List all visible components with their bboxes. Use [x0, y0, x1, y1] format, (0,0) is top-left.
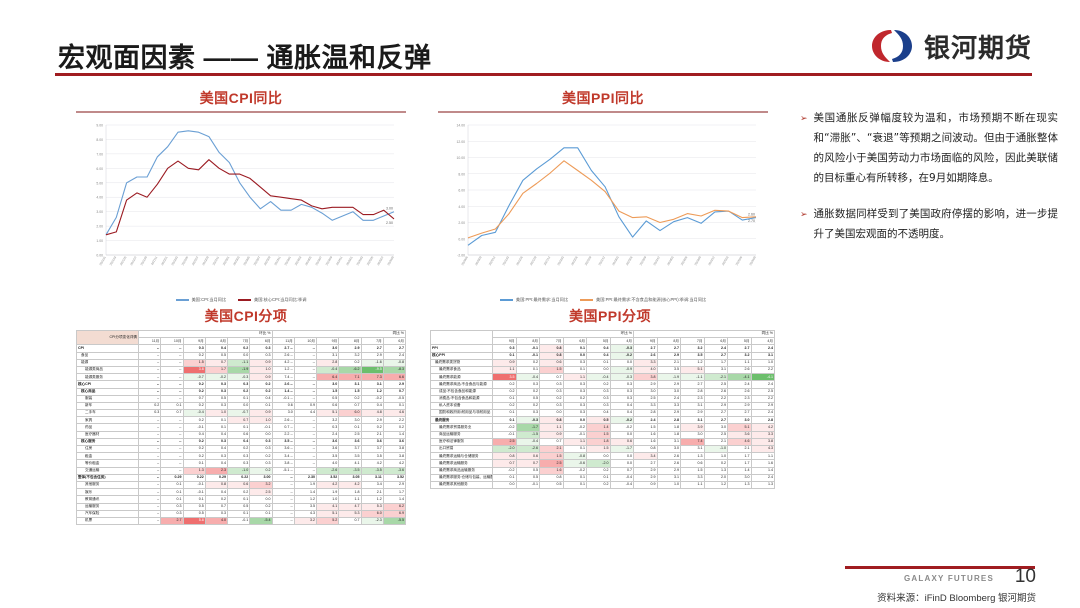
- svg-text:202009: 202009: [474, 255, 483, 266]
- svg-text:202405: 202405: [304, 255, 313, 266]
- table-row[interactable]: 最终需求运输与仓储服务0.80.61.5-0.80.00.03.42.61.31…: [431, 453, 775, 460]
- cell-mom: 0.4: [205, 345, 227, 352]
- cell-mom: --: [139, 474, 161, 481]
- cell-yoy: 3.0: [339, 417, 361, 424]
- cell-yoy: -9.5: [361, 366, 383, 373]
- cell-mom: --: [139, 438, 161, 445]
- cell-mom: --: [161, 467, 183, 474]
- cell-yoy: 1.0: [704, 453, 728, 460]
- cell-mom: 0.2: [183, 446, 205, 453]
- cell-mom: 0.2: [250, 467, 272, 474]
- table-row[interactable]: 新车0.20.10.20.30.00.10.60.90.60.70.40.1: [77, 402, 406, 409]
- col-month-header: 8月: [339, 338, 361, 345]
- cell-yoy: 4.3: [294, 510, 316, 517]
- cell-mom: 0.2: [540, 395, 564, 402]
- table-row[interactable]: 药品-----0.10.10.1-0.10.7 ----0.30.10.20.2: [77, 424, 406, 431]
- cell-mom: --: [139, 496, 161, 503]
- cell-mom: --: [139, 374, 161, 381]
- table-row[interactable]: 能源----1.50.7-1.10.94.2 ----2.80.2-1.6-0.…: [77, 359, 406, 366]
- cell-yoy: 0.2: [361, 424, 383, 431]
- cell-mom: 0.4: [610, 402, 634, 409]
- cell-mom: 0.1: [493, 352, 517, 359]
- cell-mom: 0.2: [250, 453, 272, 460]
- cell-yoy: 2.5: [339, 431, 361, 438]
- row-label: 最终需求能源: [431, 374, 493, 381]
- cell-yoy: 1.0: [751, 359, 775, 366]
- row-label: 最终需求运输服务: [431, 460, 493, 467]
- cell-yoy: 6.9: [383, 510, 405, 517]
- cell-yoy: 2.7: [704, 410, 728, 417]
- cell-yoy: 2.3: [728, 395, 752, 402]
- table-row[interactable]: 私人资本设备0.20.20.30.30.30.43.33.33.12.92.92…: [431, 402, 775, 409]
- cell-yoy: 3.2: [681, 345, 705, 352]
- cell-yoy: 2.7: [361, 345, 383, 352]
- cell-mom: 0.1: [250, 510, 272, 517]
- cell-mom: 0.3: [610, 381, 634, 388]
- table-row[interactable]: 娱乐--0.1-0.10.40.22.5--1.41.91.82.11.7: [77, 489, 406, 496]
- bullet-arrow-icon: ➢: [800, 204, 808, 244]
- cell-yoy: 0.2: [339, 359, 361, 366]
- cell-yoy: --: [294, 352, 316, 359]
- cell-yoy: 1.4: [383, 496, 405, 503]
- cell-mom: 0.1: [161, 489, 183, 496]
- cell-yoy: 0.7: [383, 388, 405, 395]
- cell-mom: 0.5: [183, 503, 205, 510]
- svg-text:202306: 202306: [625, 255, 634, 266]
- cell-yoy: 3.3: [751, 431, 775, 438]
- cell-mom: --: [161, 446, 183, 453]
- cell-yoy: 2.5: [704, 431, 728, 438]
- cell-mom: 1.5: [587, 446, 611, 453]
- cell-yoy: 2.9: [657, 467, 681, 474]
- cell-yoy: -1.0: [704, 446, 728, 453]
- table-row[interactable]: 核心PPI0.1-0.10.80.00.4-0.22.62.93.52.73.2…: [431, 352, 775, 359]
- table-row[interactable]: 食品----0.20.50.00.32.6 ----3.13.22.92.4: [77, 352, 406, 359]
- cell-yoy: 2.6: [704, 388, 728, 395]
- cell-mom: 0.2: [250, 381, 272, 388]
- cell-yoy: 2.9: [728, 402, 752, 409]
- cell-mom: 0.1: [563, 474, 587, 481]
- cell-yoy: 2.9: [634, 474, 658, 481]
- cell-mom: 0.1: [228, 424, 250, 431]
- cell-mom: 0.2: [183, 453, 205, 460]
- cell-yoy: 1.2: [361, 388, 383, 395]
- cell-mom: 0.1: [161, 496, 183, 503]
- cell-mom: --: [139, 359, 161, 366]
- legend-swatch: [238, 299, 251, 301]
- cell-yoy: 3.3: [657, 402, 681, 409]
- cell-mom: -1.9: [228, 366, 250, 373]
- cell-mom: 3.00: [250, 474, 272, 481]
- cell-yoy: 2.7: [634, 460, 658, 467]
- table-row[interactable]: 最终需求商品运输服务-0.20.51.6-0.20.20.72.92.91.51…: [431, 467, 775, 474]
- cell-mom: 0.4: [205, 489, 227, 496]
- svg-text:202207: 202207: [191, 255, 200, 266]
- cell-mom: 0.4: [610, 410, 634, 417]
- cell-yoy: 2.2: [704, 395, 728, 402]
- svg-text:202312: 202312: [652, 255, 661, 266]
- svg-text:202506: 202506: [735, 255, 744, 266]
- cell-mom: -0.2: [493, 467, 517, 474]
- table-row[interactable]: CPI----0.30.40.20.32.7 ----3.02.92.72.7: [77, 345, 406, 352]
- cell-yoy: -4.1: [728, 374, 752, 381]
- cell-mom: 0.3: [161, 510, 183, 517]
- cell-yoy: --: [294, 359, 316, 366]
- svg-text:202305: 202305: [242, 255, 251, 266]
- table-row[interactable]: 核心服务----0.20.30.40.33.5 ----3.63.63.63.6: [77, 438, 406, 445]
- cell-yoy: -3.5: [339, 467, 361, 474]
- cell-yoy: 3.8: [634, 374, 658, 381]
- row-label: 其他服务: [77, 481, 139, 488]
- table-row[interactable]: 其他服务--0.1-0.10.80.63.2--1.94.24.23.42.9: [77, 481, 406, 488]
- svg-text:3.00: 3.00: [96, 210, 103, 214]
- cell-yoy: 4.1: [339, 460, 361, 467]
- cell-mom: -0.8: [563, 453, 587, 460]
- cell-mom: 0.5: [516, 467, 540, 474]
- table-row[interactable]: 教育通讯--0.10.10.20.10.0--1.21.01.11.21.4: [77, 496, 406, 503]
- cell-yoy: 3.8 --: [272, 460, 294, 467]
- table-row[interactable]: 汽车保险--0.30.50.30.10.1--4.35.15.36.06.9: [77, 510, 406, 517]
- cell-yoy: 2.4: [751, 474, 775, 481]
- table-row[interactable]: 租金----0.20.30.30.23.4 ----3.53.53.53.8: [77, 453, 406, 460]
- cell-yoy: -0.2: [361, 395, 383, 402]
- table-row[interactable]: 服装----0.70.50.10.4-0.1 ----0.50.2-0.2-0.…: [77, 395, 406, 402]
- table-row[interactable]: 能源类商品----3.81.7-1.91.01.2 -----0.4-6.2-9…: [77, 366, 406, 373]
- table-row[interactable]: 二手车0.30.7-0.41.0-0.70.93.04.45.16.04.84.…: [77, 410, 406, 417]
- svg-text:202012: 202012: [488, 255, 497, 266]
- cell-yoy: 2.0: [704, 474, 728, 481]
- table-row[interactable]: 最终需求服务:仓储与包装、运输配发0.10.50.80.10.1-0.42.93…: [431, 474, 775, 481]
- cell-mom: 0.1: [516, 366, 540, 373]
- row-label: 成品:不包含食品和能源: [431, 388, 493, 395]
- ppi-panel-divider: [438, 111, 768, 113]
- cell-yoy: --: [272, 474, 294, 481]
- cell-mom: 0.8: [205, 481, 227, 488]
- cell-mom: --: [139, 352, 161, 359]
- col-group-mom: 环比 %: [139, 331, 273, 338]
- cell-yoy: --: [294, 446, 316, 453]
- cell-mom: -0.4: [516, 438, 540, 445]
- cell-yoy: 5.1: [317, 410, 339, 417]
- cell-yoy: 2.8: [657, 417, 681, 424]
- cell-mom: 0.3: [563, 410, 587, 417]
- cell-yoy: --: [294, 388, 316, 395]
- svg-text:202111: 202111: [150, 255, 158, 266]
- cell-mom: 0.0: [610, 359, 634, 366]
- table-row[interactable]: 运输服务--0.30.50.70.50.2--3.54.14.75.36.2: [77, 503, 406, 510]
- svg-text:202211: 202211: [212, 255, 221, 266]
- cell-mom: 0.2: [493, 388, 517, 395]
- cell-yoy: 5.3: [339, 510, 361, 517]
- cell-yoy: -6.2: [339, 366, 361, 373]
- table-row[interactable]: 最终需求运输服务0.70.72.5-0.6-2.00.02.72.60.60.2…: [431, 460, 775, 467]
- col-month-header: 8月: [657, 338, 681, 345]
- cell-yoy: 4.2: [361, 460, 383, 467]
- cell-yoy: 4.2: [751, 424, 775, 431]
- svg-text:202203: 202203: [556, 255, 565, 266]
- cell-yoy: 5.2: [317, 517, 339, 524]
- col-month-header: 6月: [383, 338, 405, 345]
- cell-mom: -0.1: [183, 489, 205, 496]
- cell-mom: 0.1: [563, 481, 587, 488]
- svg-text:202403: 202403: [294, 255, 303, 266]
- cell-mom: --: [161, 374, 183, 381]
- cell-mom: 0.5: [205, 395, 227, 402]
- cell-mom: 0.1: [183, 496, 205, 503]
- cell-yoy: 4.2: [339, 481, 361, 488]
- cell-mom: 0.1: [228, 510, 250, 517]
- row-label: 等价租金: [77, 460, 139, 467]
- cell-mom: -0.9: [610, 366, 634, 373]
- page-title: 宏观面因素 —— 通胀温和反弹: [58, 36, 432, 75]
- cell-yoy: 6.4: [317, 374, 339, 381]
- cell-mom: 0.3: [250, 438, 272, 445]
- cell-yoy: 2.2: [383, 417, 405, 424]
- legend-label: 美国:核心CPI:当月同比:季调: [254, 297, 306, 303]
- cell-yoy: 2.8: [681, 388, 705, 395]
- cell-yoy: 4.2: [317, 481, 339, 488]
- cell-mom: 1.5: [540, 366, 564, 373]
- cell-yoy: --: [294, 460, 316, 467]
- cell-yoy: 4.2 --: [272, 359, 294, 366]
- slide: 宏观面因素 —— 通胀温和反弹 银河期货 美国CPI同比 9.008.007.0…: [0, 0, 1080, 608]
- cell-mom: 0.2: [183, 381, 205, 388]
- cell-mom: --: [139, 510, 161, 517]
- svg-text:202301: 202301: [222, 255, 231, 266]
- svg-text:0.00: 0.00: [458, 237, 465, 241]
- cell-mom: 1.6: [540, 467, 564, 474]
- col-month-header: 4月: [610, 338, 634, 345]
- row-label: 能源: [77, 359, 139, 366]
- table-row[interactable]: PPI0.3-0.10.80.10.4-0.32.72.73.22.42.72.…: [431, 345, 775, 352]
- cell-mom: 0.3: [563, 388, 587, 395]
- cell-yoy: 1.9: [317, 489, 339, 496]
- cell-mom: 1.3: [183, 467, 205, 474]
- cell-mom: 0.1: [161, 402, 183, 409]
- table-row[interactable]: 最终服务0.1-0.30.80.00.5-0.22.42.83.12.73.02…: [431, 417, 775, 424]
- cell-mom: 0.7: [540, 438, 564, 445]
- cell-mom: 0.1: [205, 417, 227, 424]
- cell-yoy: -4.1: [751, 374, 775, 381]
- cell-yoy: 3.0: [317, 345, 339, 352]
- cell-mom: 0.1: [493, 417, 517, 424]
- svg-text:8.00: 8.00: [458, 172, 465, 176]
- cell-yoy: 2.9: [657, 410, 681, 417]
- cell-yoy: 2.6 --: [272, 352, 294, 359]
- cell-mom: 1.0: [205, 410, 227, 417]
- cell-yoy: 2.4: [751, 381, 775, 388]
- cell-yoy: --: [294, 424, 316, 431]
- table-row[interactable]: 消费品:不包含食品和能源0.10.50.20.20.30.32.52.42.32…: [431, 395, 775, 402]
- table-row[interactable]: 整体(不包含住房)--0.290.220.290.223.00--2.303.5…: [77, 474, 406, 481]
- svg-text:202409: 202409: [694, 255, 703, 266]
- col-month-header: 9月: [634, 338, 658, 345]
- svg-text:202303: 202303: [611, 255, 620, 266]
- cell-mom: 3.5: [493, 374, 517, 381]
- table-row[interactable]: 出口贸易-2.0-2.62.10.11.5-1.70.83.03.1-1.02.…: [431, 446, 775, 453]
- cell-mom: 0.2: [228, 489, 250, 496]
- cell-mom: --: [139, 453, 161, 460]
- cell-yoy: 2.7: [704, 417, 728, 424]
- cell-yoy: --: [294, 417, 316, 424]
- cell-mom: 0.1: [228, 496, 250, 503]
- cell-yoy: -0.4: [317, 366, 339, 373]
- cell-mom: 0.3: [139, 410, 161, 417]
- cpi-table-title: 美国CPI分项: [76, 306, 416, 326]
- cell-mom: --: [139, 424, 161, 431]
- cell-yoy: 3.5: [339, 453, 361, 460]
- table-row[interactable]: 最终需求食品1.10.11.50.10.0-0.94.03.55.13.12.6…: [431, 366, 775, 373]
- row-label: 医疗器材: [77, 431, 139, 438]
- table-row[interactable]: 核心CPI----0.20.30.30.22.6 ----3.03.13.12.…: [77, 381, 406, 388]
- legend-label: 美国:PPI:最终需求:当月同比: [516, 297, 568, 303]
- cell-yoy: 3.2: [728, 352, 752, 359]
- cell-mom: 0.22: [183, 474, 205, 481]
- svg-text:202203: 202203: [170, 255, 179, 266]
- cell-yoy: 1.1: [681, 481, 705, 488]
- cell-mom: -0.1: [493, 431, 517, 438]
- cell-mom: --: [161, 388, 183, 395]
- cell-yoy: 2.9: [657, 352, 681, 359]
- table-row[interactable]: 交通运输----1.32.3-1.00.2-5.1 -----2.6-3.5-3…: [77, 467, 406, 474]
- cell-yoy: --: [294, 395, 316, 402]
- cell-yoy: 5.3: [361, 503, 383, 510]
- cell-yoy: 2.9: [657, 381, 681, 388]
- cell-mom: 1.5: [587, 431, 611, 438]
- cell-mom: --: [161, 460, 183, 467]
- table-row[interactable]: 核心商品----0.20.30.20.21.4 ----1.51.51.20.7: [77, 388, 406, 395]
- cell-mom: 0.2: [493, 381, 517, 388]
- cell-yoy: 3.6: [339, 438, 361, 445]
- svg-text:2.70: 2.70: [748, 219, 755, 223]
- cell-mom: 0.8: [540, 474, 564, 481]
- cell-yoy: 0.2: [339, 395, 361, 402]
- row-label: 服装: [77, 395, 139, 402]
- table-row[interactable]: 能源类服务-----0.7-0.2-0.30.97.4 ----6.47.17.…: [77, 374, 406, 381]
- ppi-chart-area: 14.0012.0010.008.006.004.002.000.00-2.00…: [438, 117, 768, 295]
- cell-mom: 0.2: [228, 446, 250, 453]
- cell-yoy: 1.5: [681, 467, 705, 474]
- cell-mom: --: [161, 424, 183, 431]
- legend-item: 美国:PPI:最终需求:当月同比: [500, 297, 568, 303]
- cell-yoy: 3.7: [339, 446, 361, 453]
- cell-yoy: 4.6: [383, 410, 405, 417]
- cell-yoy: 3.0: [657, 388, 681, 395]
- cpi-line-chart: 9.008.007.006.005.004.003.002.001.000.00…: [76, 117, 406, 295]
- cell-mom: 0.2: [563, 395, 587, 402]
- cell-yoy: 1.0: [317, 496, 339, 503]
- table-row[interactable]: 住房----0.20.40.20.33.6 ----3.63.73.73.8: [77, 446, 406, 453]
- cell-mom: 0.3: [516, 410, 540, 417]
- cell-yoy: 1.9: [294, 481, 316, 488]
- cell-mom: 0.9: [540, 431, 564, 438]
- table-row[interactable]: 医疗器材----0.40.40.60.02.2 ----2.42.52.11.4: [77, 431, 406, 438]
- ppi-subitems-table[interactable]: 环比 %同比 %9月8月7月6月5月4月9月8月7月6月5月4月PPI0.3-0…: [430, 330, 775, 489]
- svg-text:202303: 202303: [232, 255, 241, 266]
- cell-mom: 0.0: [563, 352, 587, 359]
- row-label: 核心商品: [77, 388, 139, 395]
- cell-mom: 0.1: [493, 474, 517, 481]
- cell-mom: 1.1: [540, 424, 564, 431]
- row-label: 食品: [77, 352, 139, 359]
- svg-text:10.00: 10.00: [457, 156, 466, 160]
- table-row[interactable]: 最终需求商品:不含食品与能源0.20.30.30.30.20.32.92.92.…: [431, 381, 775, 388]
- cell-mom: --: [139, 366, 161, 373]
- cell-yoy: 3.3: [634, 359, 658, 366]
- cell-mom: --: [161, 417, 183, 424]
- row-label: 出口贸易: [431, 446, 493, 453]
- svg-text:202209: 202209: [584, 255, 593, 266]
- cell-mom: 0.3: [516, 381, 540, 388]
- row-label: 商品运输服务: [431, 431, 493, 438]
- cell-mom: 0.7: [493, 460, 517, 467]
- brand-name: 银河期货: [924, 28, 1032, 65]
- cell-yoy: --: [294, 438, 316, 445]
- cell-yoy: 3.6: [317, 438, 339, 445]
- table-row[interactable]: 最终需求能源3.5-0.40.71.1-0.4-0.33.8-1.9-1.1-2…: [431, 374, 775, 381]
- cell-yoy: -8.3: [383, 366, 405, 373]
- cell-mom: 0.4: [205, 431, 227, 438]
- table-row[interactable]: 最终需求贸易服务业-0.2-1.71.1-0.21.4-0.21.51.83.9…: [431, 424, 775, 431]
- table-row[interactable]: 医疗和法律服务2.5-0.40.71.11.80.61.63.17.42.14.…: [431, 438, 775, 445]
- cell-yoy: 2.9: [383, 481, 405, 488]
- cell-mom: 0.3: [205, 438, 227, 445]
- cpi-chart-legend: 美国:CPI:当月同比 美国:核心CPI:当月同比:季调: [76, 297, 406, 303]
- table-row[interactable]: 国防和政府用:耐用品与非耐用品0.10.30.00.30.40.42.82.92…: [431, 410, 775, 417]
- cell-yoy: 2.2 --: [272, 431, 294, 438]
- table-row[interactable]: 机票--2.75.84.0-0.1-5.4--3.25.20.7-2.3-5.5: [77, 517, 406, 524]
- table-row[interactable]: 商品运输服务-0.1-1.50.9-0.11.50.01.61.83.02.53…: [431, 431, 775, 438]
- cell-mom: -2.0: [493, 446, 517, 453]
- cell-mom: 0.1: [228, 395, 250, 402]
- cell-mom: 1.0: [250, 417, 272, 424]
- cell-yoy: 3.1: [657, 474, 681, 481]
- cell-yoy: 2.5: [634, 395, 658, 402]
- svg-text:202411: 202411: [335, 255, 344, 266]
- cell-yoy: -2.3: [361, 517, 383, 524]
- cell-yoy: 2.7: [634, 345, 658, 352]
- cell-mom: --: [161, 453, 183, 460]
- table-row[interactable]: 最终需求类货物0.90.20.60.30.10.03.32.11.21.71.1…: [431, 359, 775, 366]
- table-row[interactable]: 最终需求其他服务0.0-0.10.50.10.2-0.40.91.01.11.2…: [431, 481, 775, 488]
- cell-mom: 0.8: [493, 453, 517, 460]
- cell-yoy: 2.4: [317, 431, 339, 438]
- cell-yoy: 2.1: [704, 438, 728, 445]
- table-row[interactable]: 家具----0.20.10.71.02.6 ----3.23.02.92.2: [77, 417, 406, 424]
- cell-yoy: 3.0: [634, 388, 658, 395]
- cell-yoy: 2.5: [751, 388, 775, 395]
- cell-yoy: 7.3: [361, 374, 383, 381]
- footer-divider: [845, 566, 1035, 569]
- cell-yoy: 0.4: [361, 402, 383, 409]
- cell-mom: 1.1: [493, 366, 517, 373]
- cell-mom: 0.9: [250, 374, 272, 381]
- cell-mom: 0.2: [587, 381, 611, 388]
- cell-mom: 0.7: [228, 417, 250, 424]
- cell-yoy: 1.7: [383, 489, 405, 496]
- cell-mom: 0.7: [205, 503, 227, 510]
- svg-text:12.00: 12.00: [457, 140, 466, 144]
- cell-yoy: 1.7: [728, 460, 752, 467]
- cell-yoy: 1.8: [657, 424, 681, 431]
- cpi-subitems-table[interactable]: CPI分项变化详情环比 %同比 %11月10月9月8月7月6月11月10月9月8…: [76, 330, 406, 525]
- cell-yoy: 3.3: [634, 402, 658, 409]
- notes-panel: ➢ 美国通胀反弹幅度较为温和，市场预期不断在现实和“滞胀”、“衰退”等预期之间波…: [800, 108, 1058, 260]
- cell-mom: -0.4: [610, 474, 634, 481]
- table-row[interactable]: 成品:不包含食品和能源0.20.20.30.30.30.33.03.02.82.…: [431, 388, 775, 395]
- table-row[interactable]: 等价租金----0.10.40.30.33.8 ----4.04.14.24.2: [77, 460, 406, 467]
- cell-yoy: 4.0: [634, 366, 658, 373]
